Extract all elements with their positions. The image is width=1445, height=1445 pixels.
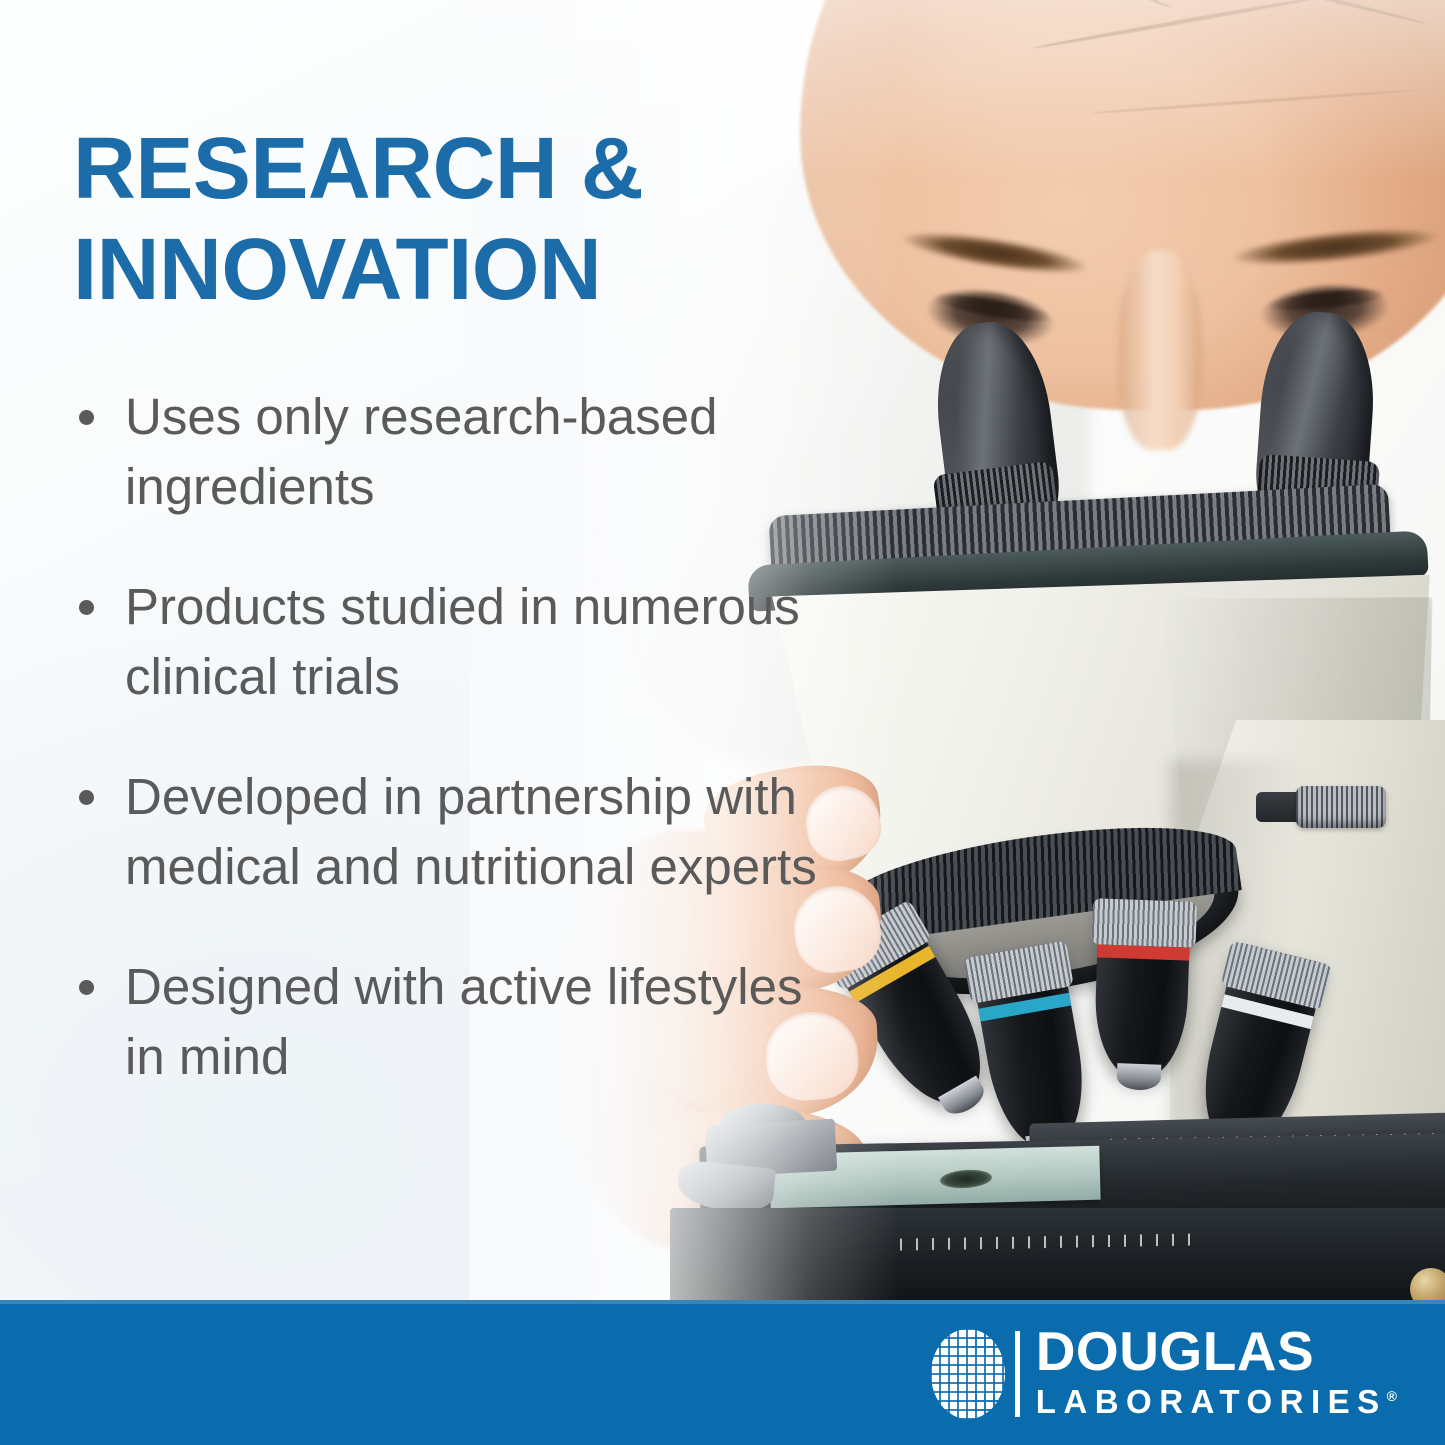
bullet-dot-icon — [79, 600, 94, 615]
objective-collar — [1092, 898, 1198, 948]
list-item-label: Uses only research-based ingredients — [125, 388, 717, 515]
page-title-line-1: RESEARCH & — [73, 118, 833, 219]
list-item-label: Designed with active lifestyles in mind — [125, 958, 802, 1085]
douglas-grid-circle-icon — [931, 1329, 1005, 1419]
list-item: Developed in partnership with medical an… — [73, 762, 833, 902]
logo-wordmark: DOUGLAS LABORATORIES® — [1036, 1326, 1397, 1422]
registered-trademark-icon: ® — [1387, 1388, 1397, 1404]
page-title-line-2: INNOVATION — [73, 219, 833, 320]
bullet-dot-icon — [79, 790, 94, 805]
stage-lower-block — [670, 1208, 1445, 1310]
feature-list: Uses only research-based ingredients Pro… — [73, 382, 833, 1092]
focus-knob — [1296, 786, 1386, 828]
list-item: Designed with active lifestyles in mind — [73, 952, 833, 1092]
bullet-dot-icon — [79, 980, 94, 995]
infographic-canvas: RESEARCH & INNOVATION Uses only research… — [0, 0, 1445, 1445]
list-item-label: Products studied in numerous clinical tr… — [125, 578, 800, 705]
brand-footer-bar: DOUGLAS LABORATORIES® — [0, 1300, 1445, 1445]
objective-color-band — [1097, 944, 1189, 960]
nose-bridge — [1118, 250, 1202, 450]
logo-brand-sub: LABORATORIES® — [1036, 1376, 1397, 1422]
list-item-label: Developed in partnership with medical an… — [125, 768, 817, 895]
bullet-dot-icon — [79, 410, 94, 425]
logo-sub-text: LABORATORIES — [1036, 1383, 1387, 1420]
brand-logo: DOUGLAS LABORATORIES® — [931, 1326, 1397, 1422]
page-title: RESEARCH & INNOVATION — [73, 118, 833, 320]
footer-top-edge — [0, 1300, 1445, 1304]
list-item: Uses only research-based ingredients — [73, 382, 833, 522]
logo-brand-name: DOUGLAS — [1036, 1326, 1397, 1376]
logo-divider — [1015, 1331, 1020, 1417]
list-item: Products studied in numerous clinical tr… — [73, 572, 833, 712]
